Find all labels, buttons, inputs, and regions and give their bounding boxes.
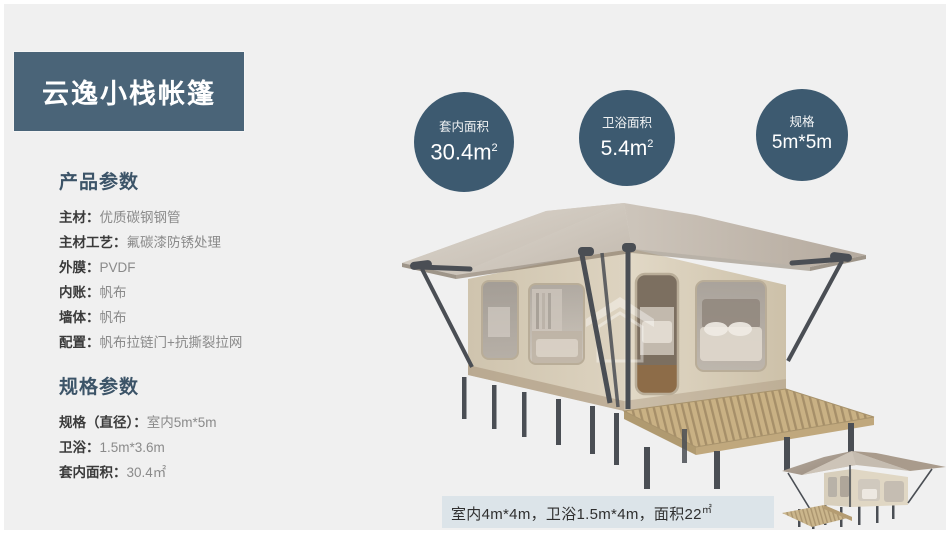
badge-caption: 套内面积: [439, 120, 489, 135]
badge-value: 5m*5m: [772, 131, 832, 155]
spec-label: 配置：: [59, 335, 100, 350]
spec-row: 主材工艺：氟碳漆防锈处理: [59, 230, 242, 255]
badge-caption: 卫浴面积: [602, 116, 652, 131]
spec-value: 室内5m*5m: [147, 415, 217, 430]
spec-value: 帆布: [100, 310, 127, 325]
tent-window-right: [696, 281, 766, 371]
badge-caption: 规格: [789, 115, 814, 130]
spec-row: 规格（直径）：室内5m*5m: [59, 410, 217, 435]
section-heading-product: 产品参数: [59, 167, 242, 194]
size-parameters-section: 规格参数 规格（直径）：室内5m*5m 卫浴：1.5m*3.6m 套内面积：30…: [59, 372, 217, 485]
spec-row: 配置：帆布拉链门+抗撕裂拉网: [59, 330, 242, 355]
caption-text: 室内4m*4m，卫浴1.5m*4m，面积22㎡: [451, 501, 712, 524]
spec-row: 卫浴：1.5m*3.6m: [59, 435, 217, 460]
spec-row: 主材：优质碳钢钢管: [59, 205, 242, 230]
stat-badge-dimensions: 规格 5m*5m: [756, 89, 848, 181]
spec-value: 帆布拉链门+抗撕裂拉网: [100, 335, 243, 350]
spec-row: 外膜：PVDF: [59, 255, 242, 280]
badge-value: 30.4m2: [430, 136, 497, 164]
tent-thumbnail-inset: [780, 447, 948, 533]
spec-value: 1.5m*3.6m: [100, 440, 165, 455]
spec-label: 外膜：: [59, 260, 100, 275]
tent-window-left-1: [482, 281, 518, 359]
product-parameters-section: 产品参数 主材：优质碳钢钢管 主材工艺：氟碳漆防锈处理 外膜：PVDF 内账：帆…: [59, 167, 242, 355]
stat-badge-bathroom-area: 卫浴面积 5.4m2: [579, 90, 675, 186]
spec-row: 内账：帆布: [59, 280, 242, 305]
spec-value: 30.4㎡: [127, 465, 167, 480]
caption-bar: 室内4m*4m，卫浴1.5m*4m，面积22㎡: [442, 496, 774, 528]
spec-value: 氟碳漆防锈处理: [127, 235, 222, 250]
spec-label: 内账：: [59, 285, 100, 300]
spec-label: 规格（直径）：: [59, 415, 147, 430]
spec-value: 帆布: [100, 285, 127, 300]
spec-row: 套内面积：30.4㎡: [59, 460, 217, 485]
stat-badge-interior-area: 套内面积 30.4m2: [414, 92, 514, 192]
spec-label: 卫浴：: [59, 440, 100, 455]
spec-label: 墙体：: [59, 310, 100, 325]
section-heading-size: 规格参数: [59, 372, 217, 399]
badge-value: 5.4m2: [601, 132, 654, 161]
product-title: 云逸小栈帐篷: [42, 72, 216, 111]
product-spec-page: 云逸小栈帐篷 产品参数 主材：优质碳钢钢管 主材工艺：氟碳漆防锈处理 外膜：PV…: [0, 0, 950, 534]
spec-label: 套内面积：: [59, 465, 127, 480]
spec-row: 墙体：帆布: [59, 305, 242, 330]
spec-value: PVDF: [100, 260, 136, 275]
spec-value: 优质碳钢钢管: [100, 210, 181, 225]
spec-label: 主材：: [59, 210, 100, 225]
tent-window-left-2: [529, 284, 584, 364]
tent-illustration: [396, 189, 950, 489]
title-banner: 云逸小栈帐篷: [14, 52, 244, 131]
spec-label: 主材工艺：: [59, 235, 127, 250]
